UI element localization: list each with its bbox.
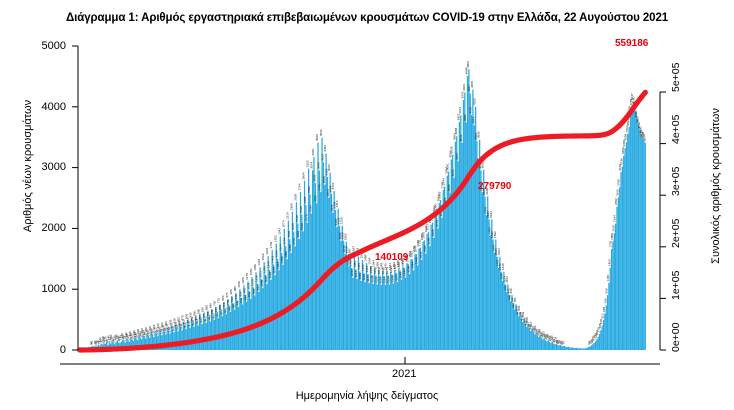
bar xyxy=(545,340,546,350)
x-axis-label: Ημερομηνία λήψης δείγματος xyxy=(0,390,734,402)
bar xyxy=(340,241,341,350)
bar xyxy=(596,339,597,350)
bar-value-label: 2318 xyxy=(299,206,303,213)
bar xyxy=(313,157,314,350)
bar xyxy=(641,135,642,350)
bar xyxy=(317,143,318,350)
bar xyxy=(290,253,291,350)
bar-value-label: 3326 xyxy=(621,147,625,154)
bar-value-label: 4455 xyxy=(470,81,474,88)
bar xyxy=(626,142,627,350)
bar-value-label: 766 xyxy=(603,298,607,303)
bar xyxy=(583,349,584,350)
bar xyxy=(572,347,573,350)
bar xyxy=(301,214,302,350)
bar xyxy=(628,127,629,350)
bar xyxy=(396,273,397,350)
left-tick-1000: 1000 xyxy=(22,283,66,295)
bar xyxy=(278,270,279,350)
bar xyxy=(569,347,570,350)
bar xyxy=(336,227,337,350)
bar xyxy=(185,329,186,350)
bar-value-label: 651 xyxy=(517,305,521,310)
bar xyxy=(461,143,462,350)
bar xyxy=(449,193,450,350)
bar xyxy=(176,329,177,350)
bar xyxy=(389,285,390,350)
bar-value-label: 1852 xyxy=(343,233,347,240)
bar xyxy=(576,348,577,350)
bar-value-label: 539 xyxy=(521,312,525,317)
bar-value-label: 2176 xyxy=(304,214,308,221)
left-tick-0: 0 xyxy=(22,344,66,356)
bar xyxy=(251,277,252,350)
bar xyxy=(180,327,181,350)
bar xyxy=(261,279,262,350)
bar xyxy=(456,136,457,350)
bar xyxy=(224,309,225,350)
bar xyxy=(253,287,254,350)
bar xyxy=(316,203,317,350)
bar-value-label: 2828 xyxy=(322,176,326,183)
bar xyxy=(637,119,638,350)
bar xyxy=(409,274,410,350)
bar-value-label: 2017 xyxy=(425,223,429,230)
bar-value-label: 70 xyxy=(562,341,566,345)
bar-value-label: 2565 xyxy=(438,191,442,198)
bar-value-label: 3074 xyxy=(310,162,314,169)
bar xyxy=(405,278,406,350)
left-tick-3000: 3000 xyxy=(22,161,66,173)
bar xyxy=(623,156,624,350)
bar-value-label: 1150 xyxy=(606,274,610,281)
bar-value-label: 3212 xyxy=(320,154,324,161)
bar xyxy=(593,343,594,350)
bar xyxy=(371,275,372,350)
annotation-559186: 559186 xyxy=(615,38,648,49)
bar xyxy=(265,275,266,350)
bar-value-label: 3338 xyxy=(450,146,454,153)
bar xyxy=(509,295,510,350)
bar xyxy=(304,181,305,350)
bar xyxy=(417,266,418,350)
bar-value-label: 4013 xyxy=(458,107,462,114)
bar xyxy=(332,213,333,350)
bar xyxy=(212,316,213,350)
bar xyxy=(486,215,487,350)
bar-value-label: 2482 xyxy=(303,196,307,203)
bar xyxy=(393,284,394,350)
bar-value-label: 2528 xyxy=(294,194,298,201)
bar-value-label: 3136 xyxy=(619,158,623,165)
bar-value-label: 2700 xyxy=(318,183,322,190)
bar xyxy=(268,256,269,350)
bar xyxy=(619,187,620,350)
bar xyxy=(351,268,352,350)
bar-value-label: 2214 xyxy=(285,212,289,219)
bar xyxy=(549,342,550,350)
bar xyxy=(420,248,421,350)
bar-value-label: 2794 xyxy=(442,178,446,185)
bar xyxy=(475,107,476,350)
bar xyxy=(303,231,304,350)
bar xyxy=(533,332,534,350)
bar xyxy=(292,212,293,350)
bar xyxy=(363,273,364,350)
bar xyxy=(258,292,259,350)
bar xyxy=(563,346,564,350)
right-tick-1e05: 1e+05 xyxy=(670,271,682,301)
bar xyxy=(391,274,392,350)
bar xyxy=(635,111,636,350)
bar xyxy=(289,239,290,350)
bar xyxy=(383,276,384,350)
bar xyxy=(282,265,283,350)
bar xyxy=(460,115,461,350)
bar xyxy=(355,269,356,350)
bar xyxy=(367,274,368,350)
bar xyxy=(568,347,569,350)
bar-value-label: 2079 xyxy=(435,220,439,227)
bar xyxy=(580,348,581,350)
bar xyxy=(579,348,580,350)
bar-value-label: 1918 xyxy=(431,229,435,236)
bar-value-label: 1650 xyxy=(423,245,427,252)
bar-value-label: 3364 xyxy=(323,145,327,152)
bar xyxy=(352,278,353,350)
bar xyxy=(584,348,585,350)
bar xyxy=(400,271,401,350)
bar-value-label: 2855 xyxy=(312,174,316,181)
bar-value-label: 3544 xyxy=(642,134,646,141)
bar xyxy=(285,246,286,350)
bar xyxy=(561,346,562,350)
bar xyxy=(196,322,197,350)
bar xyxy=(480,170,481,350)
bar xyxy=(436,212,437,350)
bar xyxy=(315,183,316,350)
bar xyxy=(324,185,325,350)
bar xyxy=(177,331,178,350)
bar xyxy=(228,306,229,350)
bar xyxy=(220,311,221,350)
right-tick-2e05: 2e+05 xyxy=(670,219,682,249)
bar xyxy=(245,295,246,350)
bar xyxy=(616,207,617,350)
left-tick-2000: 2000 xyxy=(22,222,66,234)
bar xyxy=(413,270,414,350)
bar xyxy=(645,143,646,350)
bar xyxy=(387,275,388,350)
bar xyxy=(488,220,489,350)
bar-value-label: 1772 xyxy=(292,238,296,245)
bar xyxy=(250,299,251,350)
bar xyxy=(276,243,277,350)
bar xyxy=(638,125,639,350)
bar xyxy=(440,200,441,350)
right-tick-5e05: 5e+05 xyxy=(670,63,682,93)
bar-value-label: 3843 xyxy=(471,117,475,124)
bar xyxy=(490,235,491,350)
left-tick-4000: 4000 xyxy=(22,101,66,113)
bar xyxy=(297,223,298,350)
bar xyxy=(588,347,589,350)
bar xyxy=(615,223,616,350)
bar-value-label: 2030 xyxy=(300,223,304,230)
bar xyxy=(365,282,366,350)
bar-value-label: 445 xyxy=(525,317,529,322)
bar xyxy=(169,334,170,350)
bar xyxy=(356,279,357,350)
bar-value-label: 1896 xyxy=(287,230,291,237)
bar xyxy=(242,305,243,350)
bar xyxy=(530,331,531,350)
bar-value-label: 1858 xyxy=(610,233,614,240)
bar-value-label: 3632 xyxy=(319,129,323,136)
bar-series xyxy=(79,69,646,350)
annotation-140109: 140109 xyxy=(375,252,408,263)
bar xyxy=(320,192,321,350)
bar xyxy=(286,259,287,350)
bar xyxy=(550,343,551,350)
bar-value-label: 2782 xyxy=(617,179,621,186)
bar xyxy=(255,272,256,350)
bar xyxy=(377,284,378,350)
bar-value-label: 940 xyxy=(509,288,513,293)
bar xyxy=(542,339,543,350)
bar xyxy=(259,267,260,350)
bar xyxy=(470,94,471,350)
bar xyxy=(471,115,472,350)
bar xyxy=(487,196,488,350)
bar xyxy=(189,328,190,350)
bar-value-label: 4163 xyxy=(473,98,477,105)
bar xyxy=(624,148,625,350)
bar xyxy=(188,325,189,350)
bar xyxy=(270,280,271,350)
bar xyxy=(257,283,258,350)
bar xyxy=(478,167,479,350)
bar-value-label: 2365 xyxy=(289,203,293,210)
bar xyxy=(249,291,250,350)
bar xyxy=(311,213,312,350)
bar xyxy=(612,241,613,350)
bar-value-label: 1594 xyxy=(497,248,501,255)
bar xyxy=(338,209,339,350)
bar xyxy=(284,229,285,350)
bar xyxy=(476,141,477,350)
bar xyxy=(173,332,174,350)
bar xyxy=(379,276,380,350)
bar-value-label: 3890 xyxy=(463,114,467,121)
bar xyxy=(307,223,308,350)
bar xyxy=(482,192,483,350)
bar xyxy=(639,130,640,350)
bar xyxy=(397,282,398,350)
bar-value-label: 939 xyxy=(605,288,609,293)
bar xyxy=(630,115,631,350)
bar xyxy=(441,218,442,350)
bar xyxy=(193,327,194,350)
bar xyxy=(537,336,538,351)
bar xyxy=(300,192,301,350)
bar xyxy=(404,268,405,350)
bar xyxy=(634,105,635,350)
bar-value-label: 1775 xyxy=(427,238,431,245)
bar-value-label: 4020 xyxy=(469,106,473,113)
bar xyxy=(360,281,361,350)
bar xyxy=(433,238,434,350)
bar-value-label: 2414 xyxy=(335,200,339,207)
bar-value-label: 2610 xyxy=(615,189,619,196)
bar xyxy=(444,187,445,350)
bar xyxy=(272,250,273,350)
bar xyxy=(589,346,590,350)
bar xyxy=(335,210,336,350)
bar-value-label: 3556 xyxy=(623,133,627,140)
bar-value-label: 4802 xyxy=(466,61,470,68)
bar xyxy=(564,346,565,350)
bar xyxy=(587,348,588,350)
bar xyxy=(538,337,539,350)
bar xyxy=(424,240,425,350)
bar xyxy=(375,275,376,350)
bar xyxy=(288,221,289,350)
bar-value-label: 3051 xyxy=(446,163,450,170)
bar xyxy=(274,275,275,350)
bar xyxy=(595,341,596,350)
bar xyxy=(339,226,340,350)
bar xyxy=(472,90,473,350)
bar xyxy=(280,236,281,350)
bar-value-label: 2721 xyxy=(331,182,335,189)
bar xyxy=(581,348,582,350)
bar xyxy=(233,304,234,350)
bar xyxy=(483,170,484,350)
bar-value-label: 510 xyxy=(601,313,605,318)
bar-value-label: 2126 xyxy=(339,217,343,224)
bar xyxy=(247,281,248,350)
bar xyxy=(534,334,535,350)
bar xyxy=(305,205,306,350)
bar-value-label: 3069 xyxy=(316,162,320,169)
bar xyxy=(627,134,628,350)
bar xyxy=(254,295,255,350)
bar xyxy=(643,140,644,350)
bar xyxy=(293,232,294,350)
bar xyxy=(554,344,555,350)
bar-value-label: 2690 xyxy=(447,184,451,191)
left-tick-5000: 5000 xyxy=(22,40,66,52)
bar xyxy=(408,264,409,350)
bar xyxy=(208,317,209,350)
bar xyxy=(445,206,446,350)
bar xyxy=(330,173,331,350)
bar xyxy=(216,314,217,350)
bar-value-label: 2662 xyxy=(307,186,311,193)
bar-value-label: 1890 xyxy=(493,231,497,238)
bar xyxy=(246,302,247,350)
bar xyxy=(618,197,619,350)
right-tick-4e05: 4e+05 xyxy=(670,115,682,145)
right-axis-label: Συνολικός αριθμός κρουσμάτων xyxy=(710,96,722,276)
bar xyxy=(598,337,599,350)
bar xyxy=(321,138,322,350)
bar-value-label: 3034 xyxy=(327,164,331,171)
bar xyxy=(269,270,270,350)
bar xyxy=(412,259,413,350)
bar xyxy=(541,338,542,350)
bar-value-label: 2000 xyxy=(611,224,615,231)
bar-value-label: 3300 xyxy=(311,148,315,155)
bar xyxy=(421,260,422,350)
bar xyxy=(192,323,193,350)
bar xyxy=(429,246,430,350)
bar-value-label: 3658 xyxy=(454,127,458,134)
bar-value-label: 4406 xyxy=(462,84,466,91)
bar-value-label: 2166 xyxy=(295,215,299,222)
bar xyxy=(308,169,309,350)
bar xyxy=(381,285,382,350)
bar-value-label: 2336 xyxy=(308,205,312,212)
bar xyxy=(631,107,632,350)
bar xyxy=(281,253,282,350)
bar xyxy=(204,319,205,350)
bar xyxy=(202,324,203,350)
bar xyxy=(452,155,453,350)
bar xyxy=(633,102,634,350)
bar xyxy=(571,348,572,350)
bar-value-label: 2452 xyxy=(614,198,618,205)
bar xyxy=(577,348,578,350)
bar-value-label: 784 xyxy=(513,297,517,302)
bar xyxy=(592,344,593,350)
bar xyxy=(416,254,417,350)
bar xyxy=(319,171,320,350)
bar-value-label: 1943 xyxy=(277,228,281,235)
bar xyxy=(277,259,278,350)
bar xyxy=(344,254,345,350)
bar xyxy=(198,326,199,350)
bar xyxy=(237,301,238,350)
bar xyxy=(437,228,438,350)
bar xyxy=(299,239,300,350)
bar xyxy=(567,347,568,350)
bar xyxy=(266,284,267,350)
bar-value-label: 2234 xyxy=(489,211,493,218)
bar xyxy=(432,223,433,350)
x-tick-2021: 2021 xyxy=(392,368,416,380)
bar xyxy=(622,167,623,350)
bar xyxy=(591,345,592,350)
bar xyxy=(342,226,343,350)
bar xyxy=(323,162,324,350)
bar xyxy=(453,178,454,350)
chart-canvas: 6271806690751109513010412088140112150121… xyxy=(0,0,734,410)
bar xyxy=(573,348,574,350)
bar xyxy=(479,140,480,350)
bar-value-label: 1340 xyxy=(501,263,505,270)
bar xyxy=(264,262,265,350)
bar xyxy=(385,285,386,350)
bar xyxy=(200,320,201,350)
bar xyxy=(466,123,467,350)
bar-value-label: 2074 xyxy=(281,220,285,227)
bar-value-label: 2894 xyxy=(302,172,306,179)
bar xyxy=(484,197,485,350)
bar xyxy=(241,298,242,350)
bar-value-label: 3596 xyxy=(477,131,481,138)
